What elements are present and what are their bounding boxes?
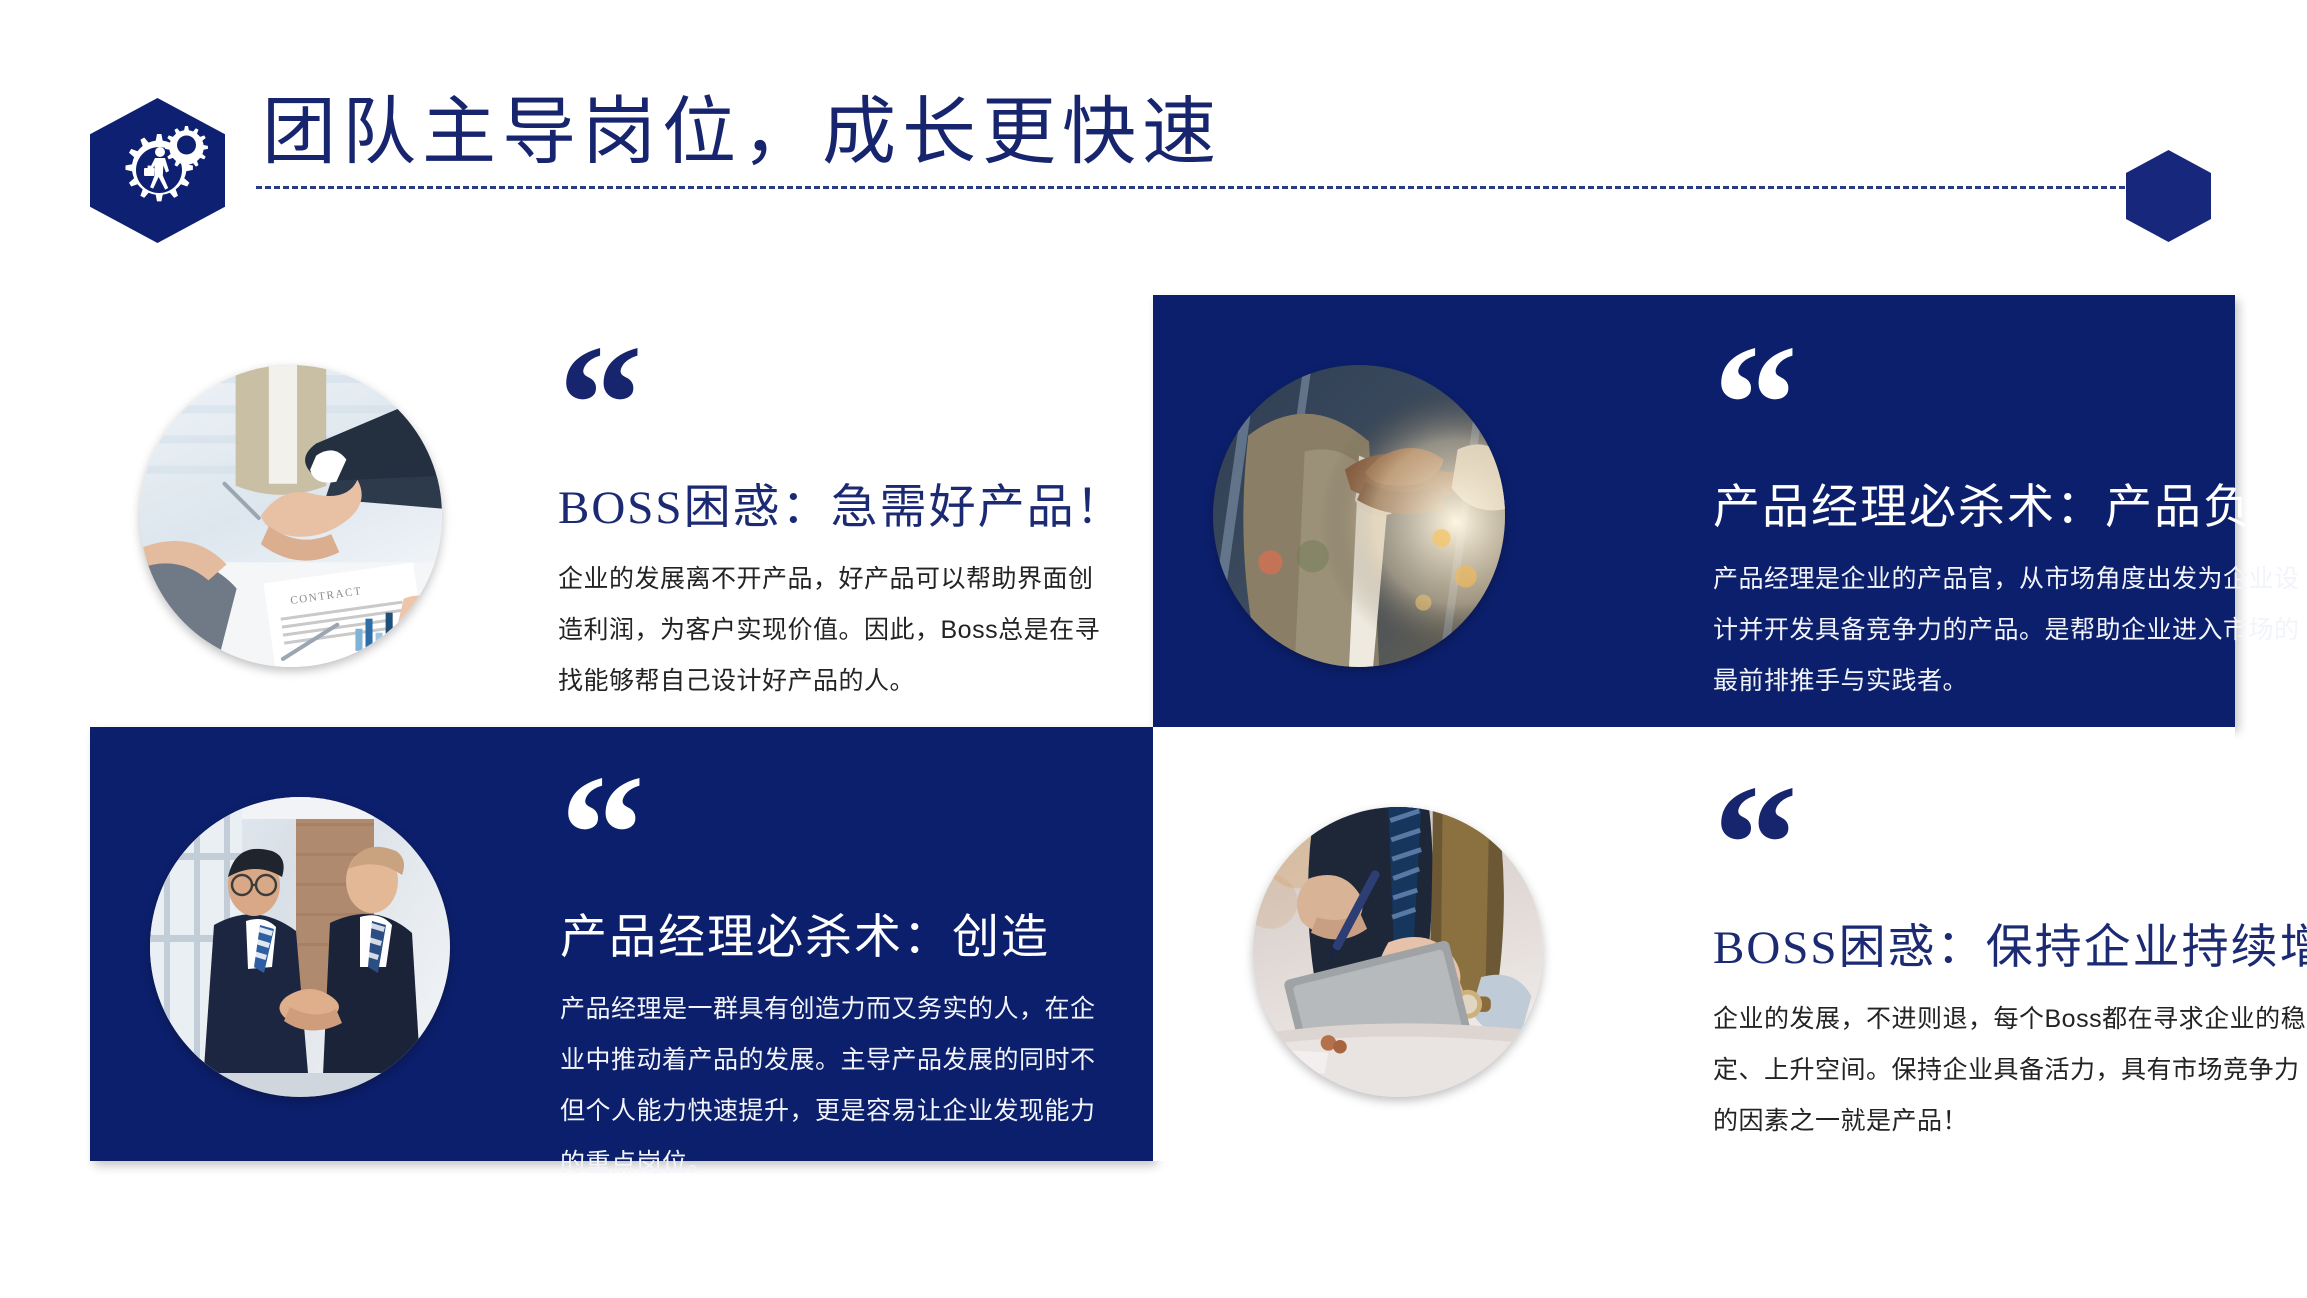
card-text-block: “ 产品经理必杀术：创造 产品经理是一群具有创造力而又务实的人，在企业中推动着产… [560,773,1120,1189]
card-title: 产品经理必杀术：创造 [560,909,1120,968]
quote-mark-icon: “ [1713,343,2307,465]
card-title: BOSS困惑：保持企业持续增长 [1713,919,2307,978]
two-businessmen-handshake-photo [150,797,450,1097]
slide-header: 团队主导岗位，成长更快速 [0,0,2307,280]
handshake-over-contract-photo: CONTRACT [140,365,442,667]
card-text-block: “ BOSS困惑：急需好产品！ 企业的发展离不开产品，好产品可以帮助界面创造利润… [558,343,1118,708]
quote-mark-icon: “ [1713,783,2307,905]
quote-mark-icon: “ [558,343,1118,465]
card-text-block: “ BOSS困惑：保持企业持续增长 企业的发展，不进则退，每个Boss都在寻求企… [1713,783,2307,1148]
hexagon-accent-icon [2126,150,2211,242]
card-body: 产品经理是一群具有创造力而又务实的人，在企业中推动着产品的发展。主导产品发展的同… [560,984,1120,1189]
page-title: 团队主导岗位，成长更快速 [262,96,1222,170]
businessman-gear-hexagon-icon [90,98,225,243]
handshake-city-lights-photo [1213,365,1505,667]
card-text-block: “ 产品经理必杀术：产品负责人 产品经理是企业的产品官，从市场角度出发为企业设计… [1713,343,2307,708]
title-divider [256,186,2134,189]
quote-card[interactable]: “ BOSS困惑：保持企业持续增长 企业的发展，不进则退，每个Boss都在寻求企… [1153,727,2235,1161]
card-body: 企业的发展，不进则退，每个Boss都在寻求企业的稳定、上升空间。保持企业具备活力… [1713,994,2307,1148]
quote-mark-icon: “ [560,773,1120,895]
card-body: 企业的发展离不开产品，好产品可以帮助界面创造利润，为客户实现价值。因此，Boss… [558,554,1118,708]
quote-card[interactable]: CONTRACT [90,295,1153,727]
quote-card[interactable]: “ 产品经理必杀术：产品负责人 产品经理是企业的产品官，从市场角度出发为企业设计… [1153,295,2235,727]
card-title: 产品经理必杀术：产品负责人 [1713,479,2307,538]
slide-root: 团队主导岗位，成长更快速 [0,0,2307,1298]
card-body: 产品经理是企业的产品官，从市场角度出发为企业设计并开发具备竞争力的产品。是帮助企… [1713,554,2307,708]
quote-card[interactable]: “ 产品经理必杀术：创造 产品经理是一群具有创造力而又务实的人，在企业中推动着产… [90,727,1153,1161]
card-title: BOSS困惑：急需好产品！ [558,479,1118,538]
writing-on-tablet-photo [1253,807,1543,1097]
